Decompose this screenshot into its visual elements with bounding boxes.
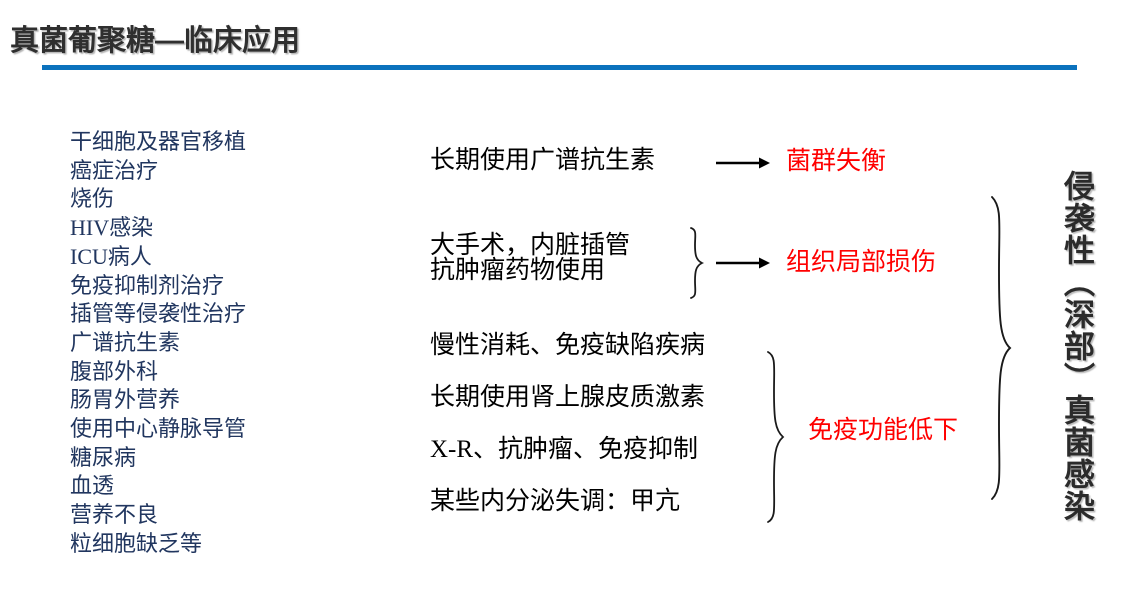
list-item: 血透 [70, 472, 370, 501]
list-item: 肠胃外营养 [70, 386, 370, 415]
mechanism-line: X-R、抗肿瘤、免疫抑制 [430, 437, 698, 462]
list-item: HIV感染 [70, 214, 370, 243]
mechanism-line: 抗肿瘤药物使用 [430, 258, 605, 283]
page-title: 真菌葡聚糖—临床应用 [10, 17, 300, 59]
list-item: 免疫抑制剂治疗 [70, 272, 370, 301]
list-item: 插管等侵袭性治疗 [70, 300, 370, 329]
list-item: 干细胞及器官移植 [70, 128, 370, 157]
list-item: ICU病人 [70, 243, 370, 272]
list-item: 腹部外科 [70, 358, 370, 387]
list-item: 使用中心静脉导管 [70, 415, 370, 444]
group-brace-small-upper [680, 225, 710, 301]
title-underline-rule [42, 65, 1077, 70]
mechanism-line: 某些内分泌失调：甲亢 [430, 489, 680, 514]
group-brace-small-lower [758, 348, 792, 526]
list-item: 广谱抗生素 [70, 329, 370, 358]
outcome-label: 菌群失衡 [786, 149, 886, 174]
conclusion-vertical-label: 侵袭性（深部）真菌感染 [1044, 170, 1092, 522]
arrow-right-icon [716, 255, 770, 271]
mechanism-line: 慢性消耗、免疫缺陷疾病 [430, 333, 705, 358]
mechanism-line: 长期使用广谱抗生素 [430, 148, 655, 173]
list-item: 营养不良 [70, 501, 370, 530]
list-item: 烧伤 [70, 185, 370, 214]
group-brace-large [978, 193, 1022, 503]
outcome-label: 免疫功能低下 [808, 418, 958, 443]
risk-factor-list: 干细胞及器官移植 癌症治疗 烧伤 HIV感染 ICU病人 免疫抑制剂治疗 插管等… [70, 128, 370, 559]
list-item: 粒细胞缺乏等 [70, 530, 370, 559]
list-item: 糖尿病 [70, 444, 370, 473]
mechanism-line: 长期使用肾上腺皮质激素 [430, 385, 705, 410]
outcome-label: 组织局部损伤 [786, 250, 936, 275]
mechanism-line: 大手术，内脏插管 [430, 233, 630, 258]
list-item: 癌症治疗 [70, 157, 370, 186]
arrow-right-icon [716, 155, 770, 171]
